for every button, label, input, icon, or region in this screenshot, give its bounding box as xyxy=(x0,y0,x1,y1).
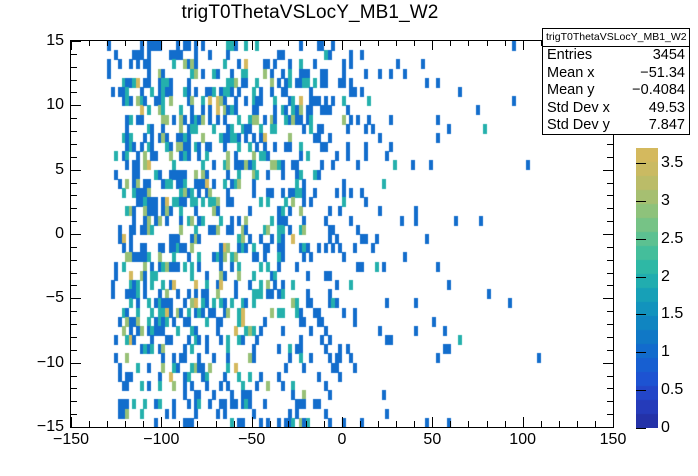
x-axis-label: 50 xyxy=(423,431,441,449)
y-axis-tick-right xyxy=(607,414,613,415)
z-axis-tick xyxy=(636,201,646,202)
x-axis-tick xyxy=(523,417,524,427)
x-axis-tick xyxy=(505,421,506,427)
y-axis-tick-right xyxy=(607,311,613,312)
x-axis-tick-top xyxy=(216,40,217,46)
x-axis-tick-top xyxy=(197,40,198,46)
stats-row: Mean y−0.4084 xyxy=(543,82,689,100)
x-axis-tick-top xyxy=(468,40,469,46)
y-axis-tick-right xyxy=(607,260,613,261)
x-axis-tick-top xyxy=(252,40,253,50)
stats-rows: Entries3454Mean x−51.34Mean y−0.4084Std … xyxy=(543,47,689,135)
x-axis-tick-top xyxy=(505,40,506,46)
y-axis-tick-right xyxy=(607,208,613,209)
y-axis-tick xyxy=(71,92,77,93)
y-axis-tick-right xyxy=(607,144,613,145)
x-axis-tick xyxy=(107,421,108,427)
x-axis-tick xyxy=(288,421,289,427)
x-axis-tick-top xyxy=(270,40,271,46)
y-axis-tick-right xyxy=(607,157,613,158)
y-axis-label: −5 xyxy=(22,289,64,307)
y-axis-tick-right xyxy=(607,388,613,389)
x-axis-tick-top xyxy=(234,40,235,46)
x-axis-tick-top xyxy=(324,40,325,46)
y-axis-tick xyxy=(71,376,77,377)
x-axis-tick xyxy=(179,421,180,427)
x-axis-tick xyxy=(197,421,198,427)
x-axis-tick xyxy=(577,421,578,427)
stats-row: Std Dev x49.53 xyxy=(543,100,689,118)
z-axis-label: 2.5 xyxy=(661,230,683,248)
y-axis-tick xyxy=(71,350,77,351)
y-axis-tick xyxy=(71,363,81,364)
x-axis-tick xyxy=(161,417,162,427)
x-axis-tick xyxy=(450,421,451,427)
y-axis-label: −15 xyxy=(22,418,64,436)
z-axis-label: 3.5 xyxy=(661,154,683,172)
y-axis-tick xyxy=(71,427,81,428)
y-axis-tick xyxy=(71,195,77,196)
y-axis-tick xyxy=(71,234,81,235)
x-axis-tick xyxy=(252,417,253,427)
x-axis-tick xyxy=(306,421,307,427)
z-axis-tick xyxy=(636,163,646,164)
x-axis-label: −50 xyxy=(238,431,265,449)
x-axis-label: 100 xyxy=(509,431,536,449)
color-scale-gradient xyxy=(636,148,658,428)
y-axis-tick xyxy=(71,105,81,106)
y-axis-tick xyxy=(71,311,77,312)
x-axis-tick xyxy=(270,421,271,427)
stats-row-key: Entries xyxy=(547,47,592,65)
stats-row-key: Std Dev x xyxy=(547,100,610,118)
y-axis-tick xyxy=(71,170,81,171)
y-axis-label: 15 xyxy=(22,32,64,50)
y-axis-label: 0 xyxy=(22,225,64,243)
y-axis-tick xyxy=(71,67,77,68)
y-axis-tick xyxy=(71,131,77,132)
y-axis-tick xyxy=(71,273,77,274)
x-axis-tick xyxy=(432,417,433,427)
x-axis-tick xyxy=(234,421,235,427)
stats-row-value: −51.34 xyxy=(640,65,685,83)
y-axis-tick-right xyxy=(607,376,613,377)
color-scale-bar xyxy=(636,148,658,428)
y-axis-tick xyxy=(71,414,77,415)
x-axis-tick-top xyxy=(107,40,108,46)
y-axis-tick xyxy=(71,183,77,184)
stats-row-key: Mean x xyxy=(547,65,595,83)
plot-frame xyxy=(70,40,614,428)
y-axis-tick xyxy=(71,337,77,338)
root-canvas: trigT0ThetaVSLocY_MB1_W2 −150−100−500501… xyxy=(0,0,698,476)
y-axis-tick-right xyxy=(603,170,613,171)
x-axis-tick xyxy=(89,421,90,427)
y-axis-label: 5 xyxy=(22,161,64,179)
x-axis-label: −100 xyxy=(143,431,179,449)
y-axis-tick xyxy=(71,208,77,209)
z-axis-label: 1.5 xyxy=(661,305,683,323)
x-axis-tick-top xyxy=(378,40,379,46)
y-axis-tick xyxy=(71,80,77,81)
y-axis-tick xyxy=(71,247,77,248)
y-axis-label: 10 xyxy=(22,96,64,114)
y-axis-tick xyxy=(71,298,81,299)
x-axis-tick xyxy=(216,421,217,427)
x-axis-tick-top xyxy=(161,40,162,50)
y-axis-tick-right xyxy=(603,298,613,299)
x-axis-tick-top xyxy=(450,40,451,46)
x-axis-label: 150 xyxy=(600,431,627,449)
z-axis-label: 0 xyxy=(661,419,670,437)
y-axis-tick-right xyxy=(607,324,613,325)
z-axis-label: 1 xyxy=(661,343,670,361)
z-axis-tick xyxy=(636,428,646,429)
y-axis-tick-right xyxy=(607,183,613,184)
x-axis-tick-top xyxy=(179,40,180,46)
x-axis-tick-top xyxy=(125,40,126,46)
y-axis-tick-right xyxy=(607,221,613,222)
x-axis-tick xyxy=(378,421,379,427)
x-axis-tick-top xyxy=(306,40,307,46)
z-axis-tick xyxy=(636,314,646,315)
x-axis-tick xyxy=(541,421,542,427)
stats-row: Entries3454 xyxy=(543,47,689,65)
x-axis-tick-top xyxy=(523,40,524,50)
z-axis-tick xyxy=(636,239,646,240)
y-axis-tick-right xyxy=(607,273,613,274)
y-axis-label: −10 xyxy=(22,354,64,372)
x-axis-tick-top xyxy=(396,40,397,46)
y-axis-tick-right xyxy=(603,363,613,364)
y-axis-tick-right xyxy=(607,195,613,196)
x-axis-tick xyxy=(487,421,488,427)
x-axis-tick-top xyxy=(143,40,144,46)
x-axis-tick-top xyxy=(414,40,415,46)
z-axis-tick xyxy=(636,352,646,353)
x-axis-tick xyxy=(396,421,397,427)
x-axis-tick xyxy=(342,417,343,427)
y-axis-tick-right xyxy=(603,234,613,235)
y-axis-tick xyxy=(71,401,77,402)
y-axis-tick xyxy=(71,144,77,145)
histogram-canvas xyxy=(71,41,613,427)
y-axis-tick xyxy=(71,157,77,158)
y-axis-tick xyxy=(71,285,77,286)
x-axis-tick-top xyxy=(487,40,488,46)
z-axis-label: 0.5 xyxy=(661,381,683,399)
stats-box-title: trigT0ThetaVSLocY_MB1_W2 xyxy=(543,29,689,47)
x-axis-tick-top xyxy=(360,40,361,46)
x-axis-tick xyxy=(125,421,126,427)
stats-row-key: Mean y xyxy=(547,82,595,100)
y-axis-tick-right xyxy=(607,337,613,338)
z-axis-label: 2 xyxy=(661,268,670,286)
stats-row-key: Std Dev y xyxy=(547,117,610,135)
z-axis-tick xyxy=(636,277,646,278)
y-axis-tick xyxy=(71,260,77,261)
x-axis-tick xyxy=(414,421,415,427)
y-axis-tick-right xyxy=(607,350,613,351)
y-axis-tick-right xyxy=(603,427,613,428)
x-axis-tick xyxy=(324,421,325,427)
x-axis-tick xyxy=(613,417,614,427)
y-axis-tick xyxy=(71,118,77,119)
y-axis-tick xyxy=(71,388,77,389)
x-axis-tick xyxy=(360,421,361,427)
x-axis-tick xyxy=(71,417,72,427)
x-axis-tick-top xyxy=(89,40,90,46)
x-axis-tick-top xyxy=(342,40,343,50)
x-axis-tick xyxy=(559,421,560,427)
x-axis-tick-top xyxy=(288,40,289,46)
stats-row-value: 3454 xyxy=(653,47,685,65)
stats-row: Std Dev y7.847 xyxy=(543,117,689,135)
y-axis-tick-right xyxy=(607,247,613,248)
x-axis-tick xyxy=(468,421,469,427)
y-axis-tick xyxy=(71,324,77,325)
page-title: trigT0ThetaVSLocY_MB1_W2 xyxy=(0,2,620,24)
stats-row: Mean x−51.34 xyxy=(543,65,689,83)
y-axis-tick-right xyxy=(607,401,613,402)
stats-row-value: −0.4084 xyxy=(632,82,685,100)
y-axis-tick xyxy=(71,41,81,42)
z-axis-label: 3 xyxy=(661,192,670,210)
x-axis-tick xyxy=(595,421,596,427)
y-axis-tick xyxy=(71,54,77,55)
x-axis-tick xyxy=(143,421,144,427)
z-axis-tick xyxy=(636,390,646,391)
stats-row-value: 49.53 xyxy=(649,100,685,118)
y-axis-tick-right xyxy=(607,285,613,286)
y-axis-tick xyxy=(71,221,77,222)
stats-box: trigT0ThetaVSLocY_MB1_W2 Entries3454Mean… xyxy=(542,28,690,135)
x-axis-label: 0 xyxy=(338,431,347,449)
x-axis-tick-top xyxy=(432,40,433,50)
stats-row-value: 7.847 xyxy=(649,117,685,135)
